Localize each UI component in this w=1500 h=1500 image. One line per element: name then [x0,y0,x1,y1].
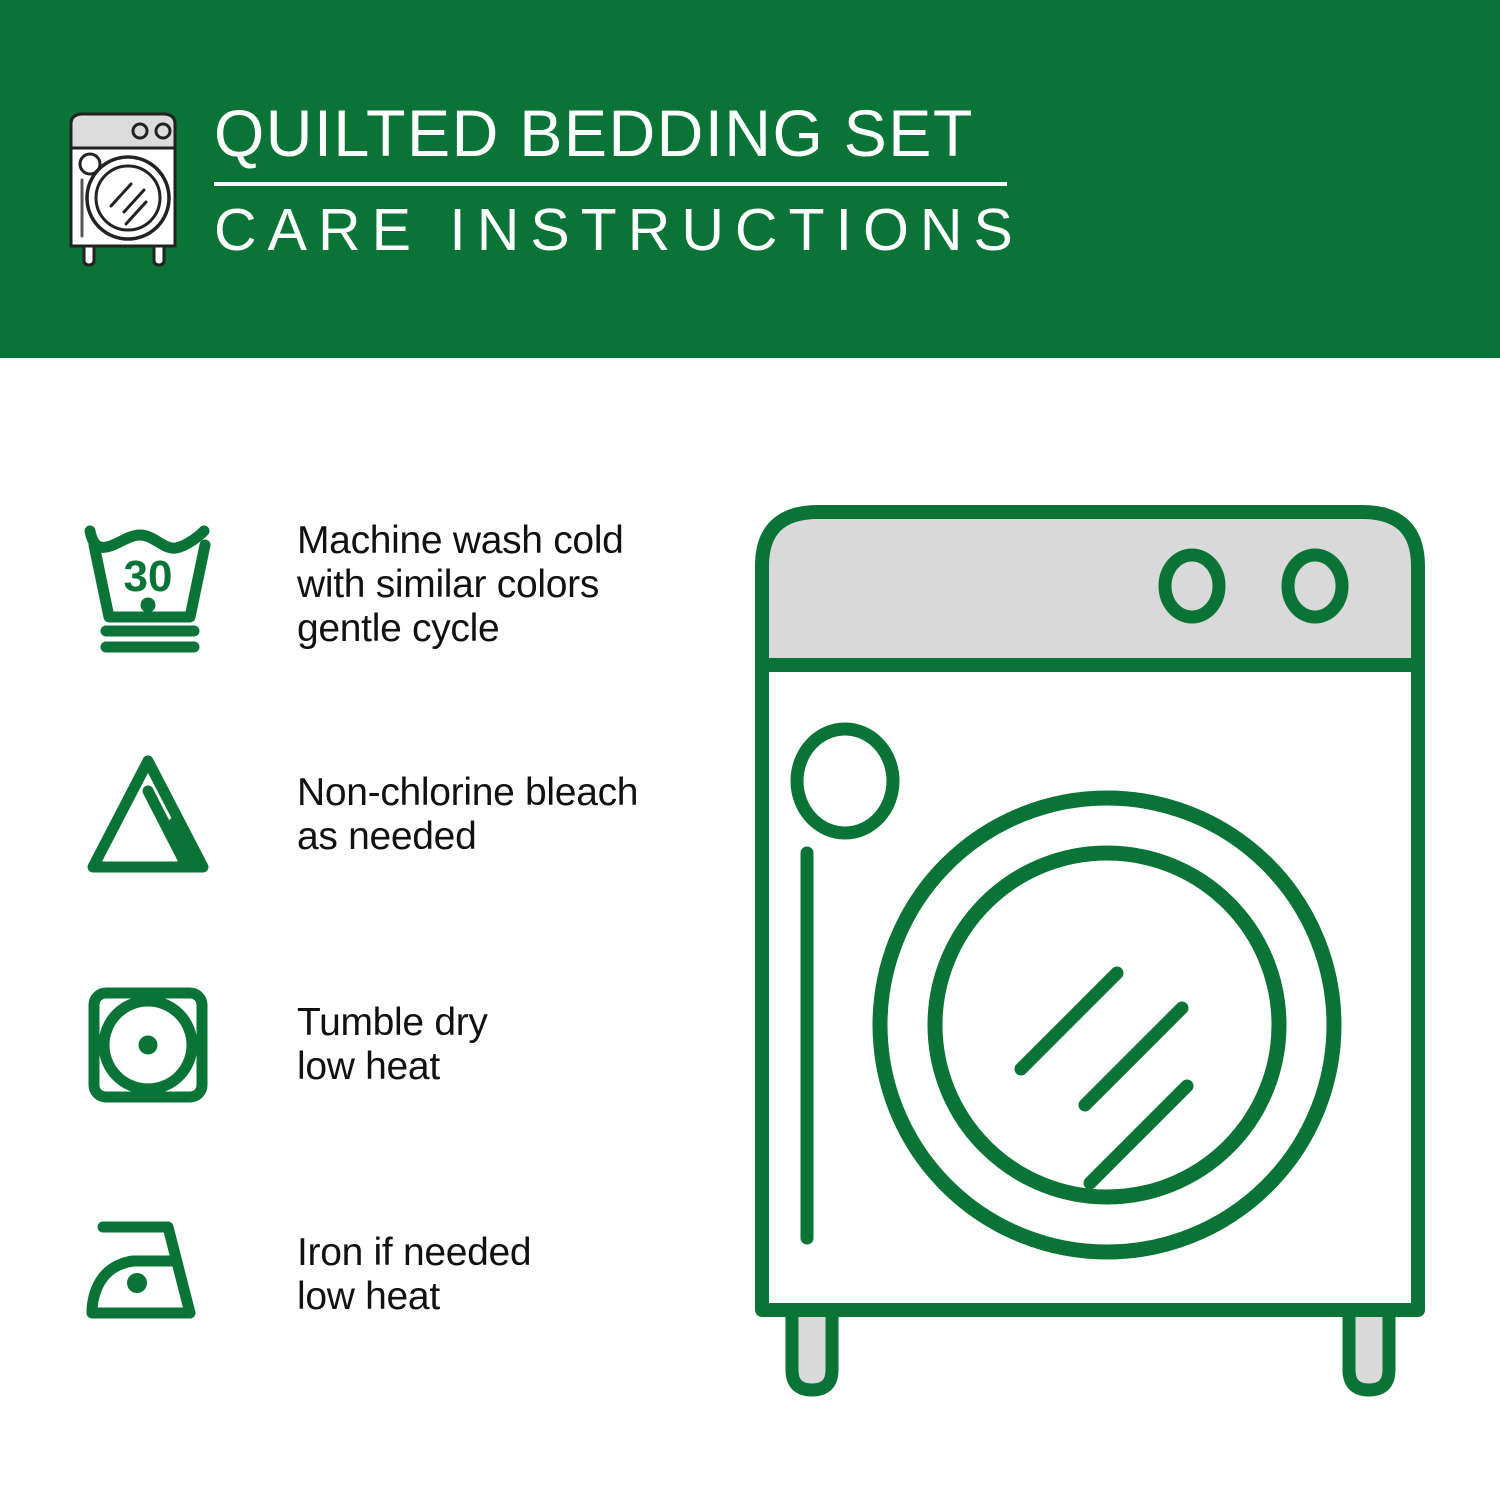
care-instruction-text: Non-chlorine bleach as needed [297,771,638,859]
care-row: 30 Machine wash cold with similar colors… [0,470,720,700]
care-text-line: with similar colors [297,563,624,607]
care-text-line: as needed [297,815,638,859]
wash-tub-30-gentle-icon: 30 [70,503,235,668]
page-title: QUILTED BEDDING SET [214,98,1008,168]
control-knob-right [1288,555,1342,617]
title-divider-rule [214,182,1007,186]
care-text-line: Tumble dry [297,1001,488,1045]
header-title-block: QUILTED BEDDING SET CARE INSTRUCTIONS [214,98,1024,262]
control-knob-left [1165,555,1219,617]
care-text-line: Non-chlorine bleach [297,771,638,815]
leg-right [1349,1306,1389,1390]
care-instruction-list: 30 Machine wash cold with similar colors… [0,470,720,1390]
header-content: QUILTED BEDDING SET CARE INSTRUCTIONS [62,98,1024,270]
care-row: Non-chlorine bleach as needed [0,700,720,930]
care-instruction-text: Iron if needed low heat [297,1231,531,1319]
care-text-line: gentle cycle [297,607,624,651]
care-row: Iron if needed low heat [0,1160,720,1390]
washing-machine-icon [62,102,192,270]
header-banner: QUILTED BEDDING SET CARE INSTRUCTIONS [0,0,1500,358]
wash-temperature-label: 30 [123,552,172,601]
page-subtitle: CARE INSTRUCTIONS [214,198,1024,262]
care-row: Tumble dry low heat [0,930,720,1160]
bleach-triangle-non-chlorine-icon [70,733,235,898]
care-text-line: low heat [297,1275,531,1319]
care-instruction-text: Machine wash cold with similar colors ge… [297,519,624,651]
care-instruction-text: Tumble dry low heat [297,1001,488,1089]
care-text-line: Iron if needed [297,1231,531,1275]
leg-left [792,1306,832,1390]
iron-low-heat-icon [70,1193,235,1358]
front-load-washing-machine-illustration [745,498,1445,1408]
care-text-line: Machine wash cold [297,519,624,563]
tumble-dry-low-heat-icon [70,963,235,1128]
care-text-line: low heat [297,1045,488,1089]
